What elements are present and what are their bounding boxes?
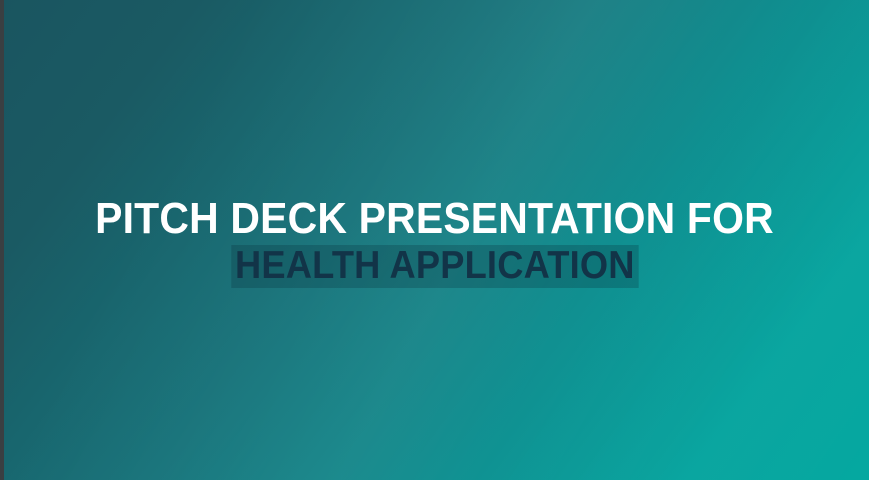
presentation-slide: PITCH DECK PRESENTATION FOR HEALTH APPLI…: [0, 0, 869, 480]
slide-background-gradient: [0, 0, 869, 480]
left-edge-strip: [0, 0, 4, 480]
